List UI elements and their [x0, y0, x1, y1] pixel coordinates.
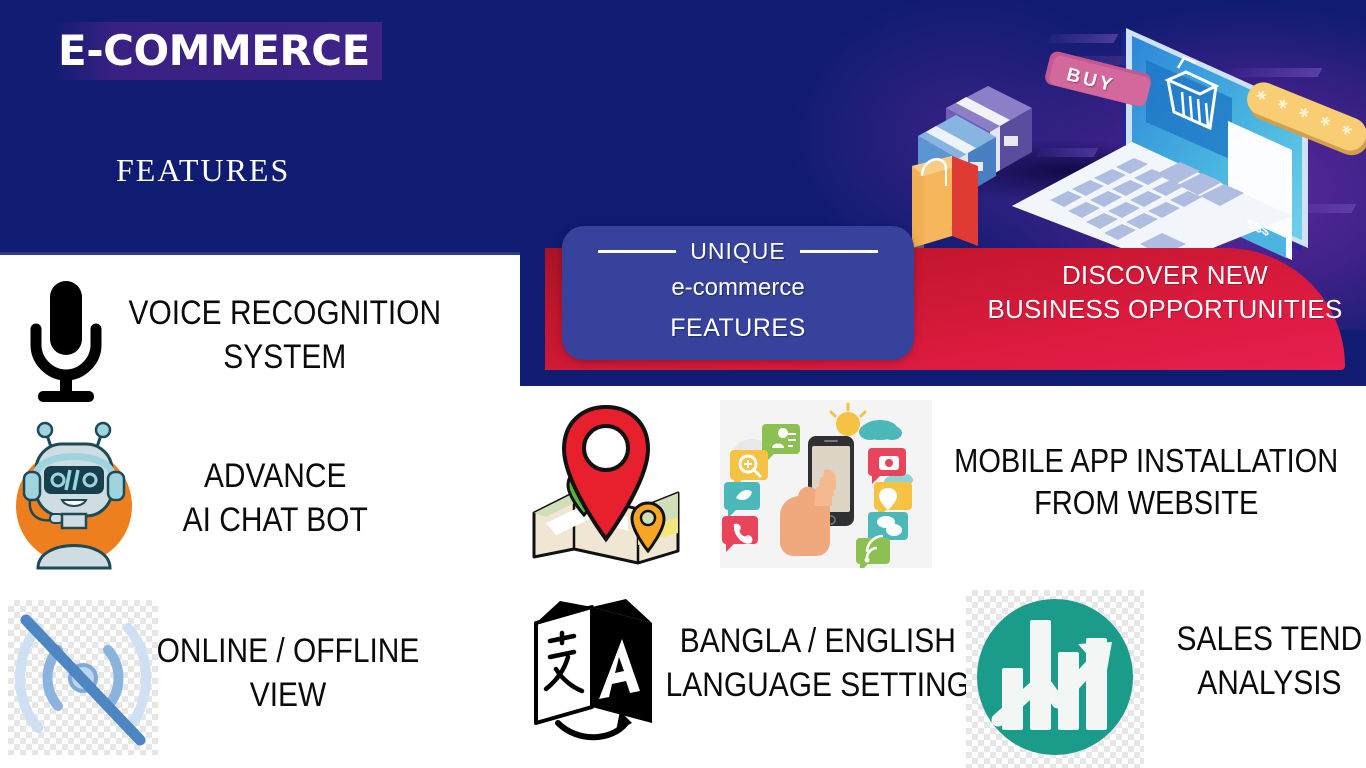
navy-divider-line: [0, 252, 520, 255]
ecommerce-illustration: BUY ✱ ✱ ✱ ✱ ✱ $$$: [900, 8, 1366, 268]
rule-right-icon: [800, 250, 878, 253]
unique-row: UNIQUE: [562, 238, 914, 265]
slide-canvas: BUY ✱ ✱ ✱ ✱ ✱ $$$ E-COMMERCE FEATURES DI…: [0, 0, 1366, 768]
translate-icon: [530, 595, 666, 745]
card-line-1: UNIQUE: [690, 238, 785, 265]
feature-sales-trend-label: SALES TEND ANALYSIS: [1155, 618, 1366, 705]
feature-ai-chat-bot-label: ADVANCE AI CHAT BOT: [130, 455, 420, 542]
banner-line-1: DISCOVER NEW: [955, 258, 1366, 292]
unique-features-card: UNIQUE e-commerce FEATURES: [562, 226, 914, 360]
card-line-3: FEATURES: [562, 314, 914, 343]
laptop-illustration-svg: [900, 8, 1366, 268]
card-line-2: e-commerce: [562, 274, 914, 302]
bar-chart-up-icon: [966, 590, 1144, 768]
page-subtitle: FEATURES: [116, 152, 290, 189]
microphone-icon: [22, 275, 108, 405]
mobile-app-illustration: [720, 400, 932, 568]
feature-voice-recognition-label: VOICE RECOGNITION SYSTEM: [100, 292, 470, 379]
rule-left-icon: [598, 250, 676, 253]
mobile-app-illustration-svg: [720, 400, 932, 568]
discover-banner-text: DISCOVER NEW BUSINESS OPPORTUNITIES: [955, 258, 1366, 327]
feature-mobile-app-label: MOBILE APP INSTALLATION FROM WEBSITE: [935, 440, 1357, 524]
robot-icon: [8, 420, 140, 570]
banner-line-2: BUSINESS OPPORTUNITIES: [955, 292, 1366, 326]
shopping-bag: [912, 156, 978, 248]
page-title: E-COMMERCE: [58, 26, 370, 75]
map-pin-icon: [520, 405, 690, 565]
feature-language-setting-label: BANGLA / ENGLISH LANGUAGE SETTING: [655, 620, 981, 707]
app-tile: [856, 536, 890, 568]
feature-online-offline-label: ONLINE / OFFLINE VIEW: [112, 630, 464, 717]
